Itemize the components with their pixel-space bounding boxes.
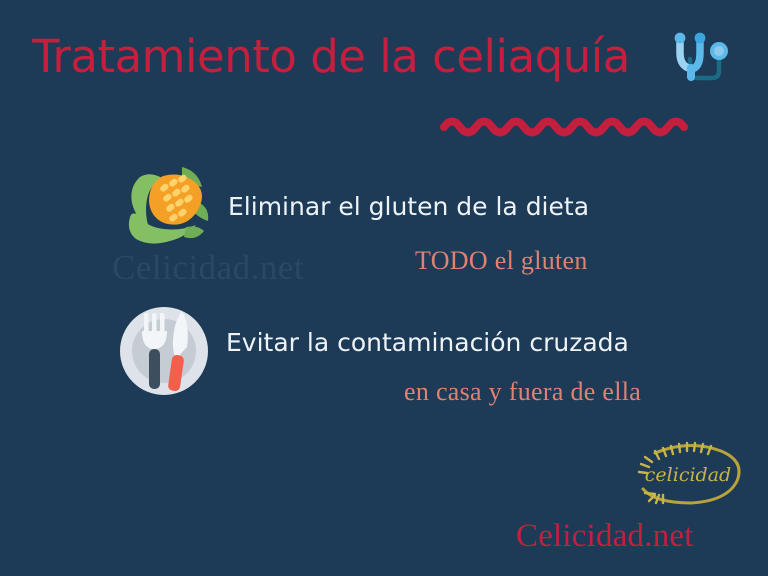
footer-brand-text: Celicidad.net bbox=[516, 516, 694, 556]
celicidad-logo: celicidad bbox=[625, 437, 751, 509]
stethoscope-icon bbox=[670, 29, 732, 95]
corn-icon bbox=[120, 161, 214, 249]
point-2-headline: Evitar la contaminación cruzada bbox=[226, 326, 629, 360]
page-title: Tratamiento de la celiaquía bbox=[32, 27, 630, 87]
point-2-subline: en casa y fuera de ella bbox=[404, 376, 641, 408]
plate-with-fork-and-knife-icon bbox=[118, 305, 210, 397]
point-1-subline: TODO el gluten bbox=[415, 245, 588, 277]
point-1-headline: Eliminar el gluten de la dieta bbox=[228, 190, 589, 224]
slide-canvas: Tratamiento de la celiaquía Celicidad.ne… bbox=[0, 0, 768, 576]
title-row: Tratamiento de la celiaquía bbox=[32, 27, 736, 89]
logo-wordmark: celicidad bbox=[645, 464, 731, 486]
watermark-text: Celicidad.net bbox=[112, 248, 304, 288]
title-underline-wave bbox=[440, 111, 702, 137]
